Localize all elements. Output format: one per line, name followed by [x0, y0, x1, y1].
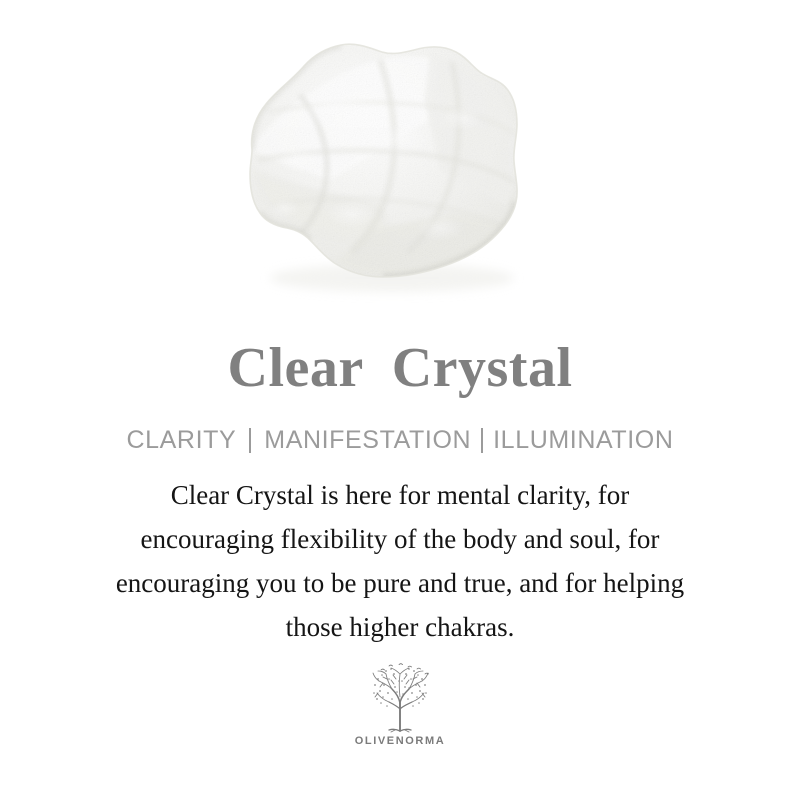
brand-name: OLIVENORMA	[355, 735, 446, 747]
product-title: Clear Crystal	[228, 340, 573, 396]
product-info-card: Clear Crystal CLARITY MANIFESTATION ILLU…	[0, 0, 800, 800]
description-line: encouraging you to be pure and true, and…	[40, 561, 760, 605]
keyword-manifestation: MANIFESTATION	[264, 426, 471, 455]
product-image	[0, 0, 800, 318]
description-line: those higher chakras.	[40, 605, 760, 649]
product-keywords: CLARITY MANIFESTATION ILLUMINATION	[126, 426, 673, 455]
keyword-clarity: CLARITY	[126, 426, 236, 455]
brand-logo: OLIVENORMA	[355, 663, 446, 747]
keyword-separator-icon	[481, 428, 483, 453]
tree-icon	[361, 663, 439, 733]
product-description: Clear Crystal is here for mental clarity…	[40, 473, 760, 649]
description-line: encouraging flexibility of the body and …	[40, 517, 760, 561]
crystal-illustration	[0, 0, 800, 318]
keyword-illumination: ILLUMINATION	[493, 426, 673, 455]
keyword-separator-icon	[249, 428, 251, 453]
description-line: Clear Crystal is here for mental clarity…	[40, 473, 760, 517]
